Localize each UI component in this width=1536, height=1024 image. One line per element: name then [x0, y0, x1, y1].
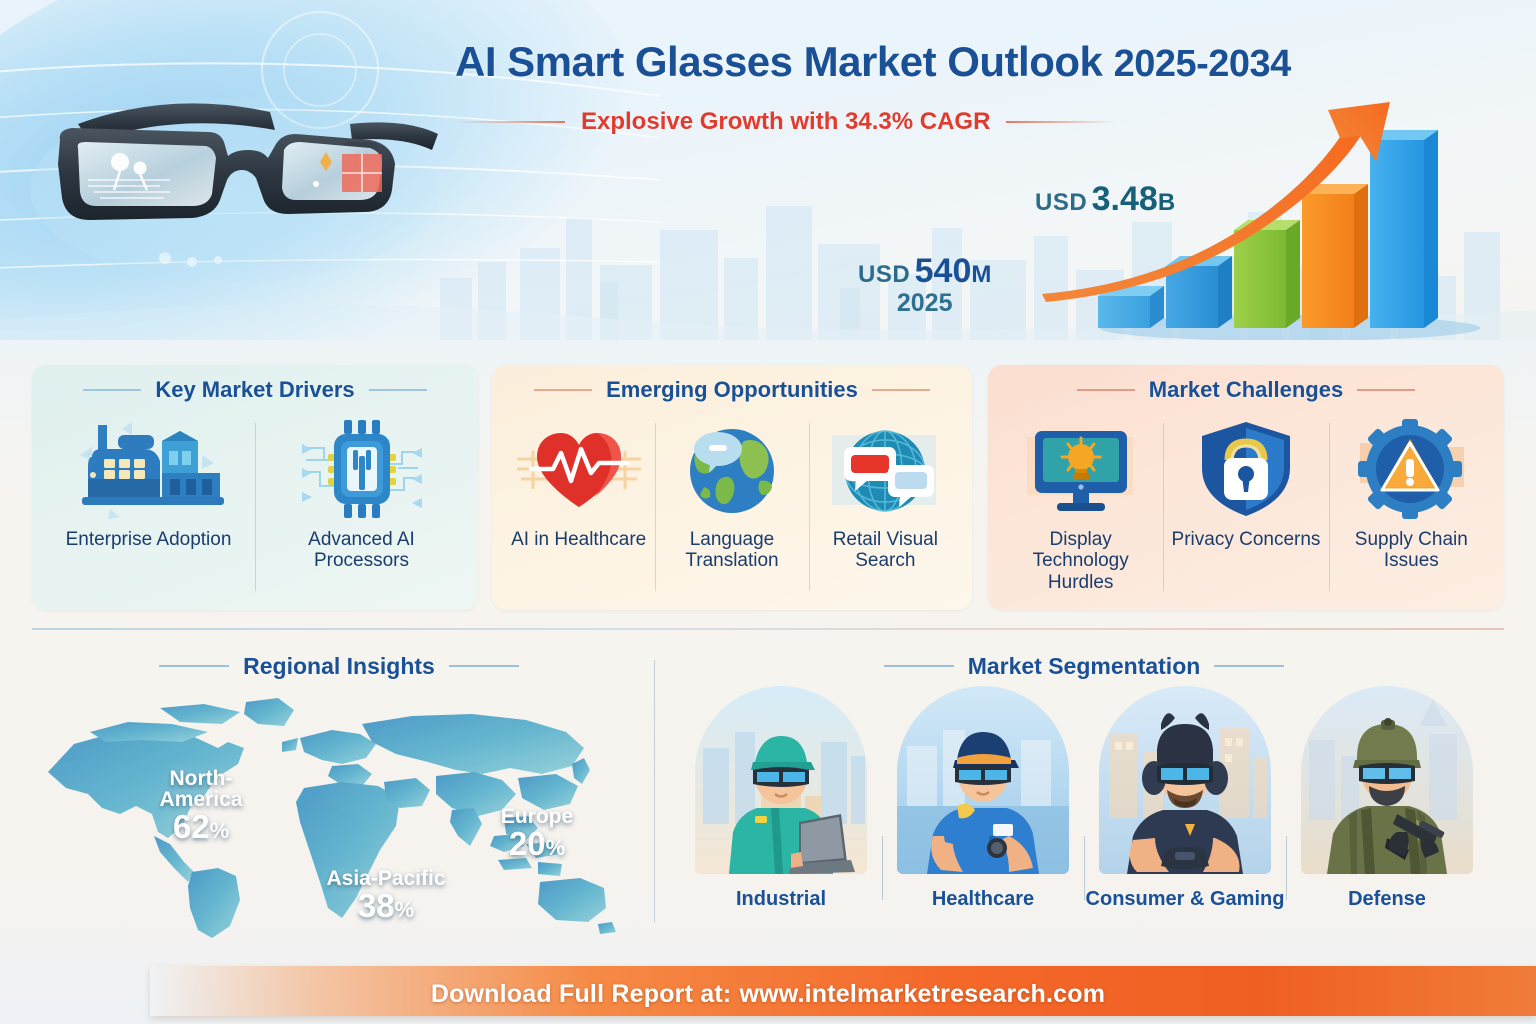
footer-banner: Download Full Report at: www.intelmarket…: [0, 958, 1536, 1024]
segment-label: Consumer & Gaming: [1086, 888, 1285, 911]
card-item-ai-in-healthcare[interactable]: AI in Healthcare: [502, 409, 655, 607]
stat-2025-year: 2025: [858, 289, 991, 318]
card-2-items: AI in Healthcare: [492, 409, 972, 607]
card-1-rule-left: [83, 389, 141, 391]
card-key-market-drivers: Key Market Drivers: [32, 365, 478, 610]
stat-2025-usd-label: USD: [858, 261, 910, 288]
card-1-rule-right: [369, 389, 427, 391]
card-item-label: Privacy Concerns: [1168, 529, 1325, 550]
card-item-supply-chain-issues[interactable]: Supply Chain Issues: [1329, 409, 1494, 607]
regional-title: Regional Insights: [229, 653, 449, 680]
bottom-vertical-divider: [654, 660, 655, 922]
card-2-header: Emerging Opportunities: [492, 365, 972, 409]
stat-2034-value: 3.48: [1092, 180, 1158, 218]
segment-industrial[interactable]: Industrial: [680, 686, 882, 936]
cards-row: Key Market Drivers: [0, 355, 1536, 620]
segment-healthcare[interactable]: Healthcare: [882, 686, 1084, 936]
card-1-header: Key Market Drivers: [32, 365, 478, 409]
infographic-page: AI Smart Glasses Market Outlook 2025-203…: [0, 0, 1536, 1024]
gear-warning-icon: [1354, 415, 1468, 523]
region-name: Europe: [482, 806, 592, 827]
monitor-bulb-icon: [1021, 415, 1141, 523]
segmentation-rule-right: [1214, 665, 1284, 667]
stat-2034-usd-label: USD: [1035, 189, 1087, 216]
card-item-label: Supply Chain Issues: [1329, 529, 1494, 572]
bar-5: [1370, 130, 1438, 328]
region-percent: 20%: [482, 827, 592, 860]
stat-2025-callout: USD 540M 2025: [858, 252, 991, 318]
segmentation-header: Market Segmentation: [664, 646, 1504, 686]
card-emerging-opportunities: Emerging Opportunities: [492, 365, 972, 610]
region-name: North-America: [136, 768, 266, 810]
bar-4: [1302, 184, 1368, 328]
smart-glasses-icon: [20, 72, 450, 292]
page-title: AI Smart Glasses Market Outlook 2025-203…: [455, 38, 1455, 98]
card-3-title: Market Challenges: [1135, 377, 1357, 403]
regional-insights-section: Regional Insights: [32, 646, 646, 946]
regional-rule-right: [449, 665, 519, 667]
card-item-display-technology-hurdles[interactable]: Display Technology Hurdles: [998, 409, 1163, 607]
shield-lock-icon: [1194, 415, 1298, 523]
footer-lead-text: Download Full Report at:: [431, 980, 732, 1009]
segment-label: Healthcare: [932, 888, 1034, 911]
growth-bar-chart: [1040, 100, 1480, 340]
card-item-privacy-concerns[interactable]: Privacy Concerns: [1163, 409, 1328, 607]
world-map: North-America 62% Asia-Pacific 38% Europ…: [32, 686, 646, 938]
segment-label: Industrial: [736, 888, 826, 911]
card-2-title: Emerging Opportunities: [592, 377, 872, 403]
card-item-advanced-ai-processors[interactable]: Advanced AI Processors: [255, 409, 468, 607]
factory-icon: [74, 415, 224, 523]
soldier-avatar: [1301, 686, 1473, 874]
industrial-worker-avatar: [695, 686, 867, 874]
card-item-label: Retail Visual Search: [809, 529, 962, 572]
card-2-rule-left: [534, 389, 592, 391]
title-main: AI Smart Glasses Market Outlook: [455, 38, 1102, 85]
title-years: 2025-2034: [1114, 43, 1291, 85]
segmentation-title: Market Segmentation: [954, 653, 1215, 680]
stat-2025-value: 540: [915, 252, 972, 290]
footer-url[interactable]: www.intelmarketresearch.com: [739, 980, 1105, 1009]
stat-2034-unit: B: [1158, 189, 1175, 216]
region-label-europe: Europe 20%: [482, 806, 592, 860]
healthcare-worker-avatar: [897, 686, 1069, 874]
regional-header: Regional Insights: [32, 646, 646, 686]
card-2-rule-right: [872, 389, 930, 391]
segment-defense[interactable]: Defense: [1286, 686, 1488, 936]
segmentation-rule-left: [884, 665, 954, 667]
card-1-items: Enterprise Adoption: [32, 409, 478, 607]
region-label-asia-pacific: Asia-Pacific 38%: [326, 868, 446, 922]
card-item-label: AI in Healthcare: [507, 529, 650, 550]
card-item-label: Enterprise Adoption: [62, 529, 236, 550]
cpu-chip-icon: [294, 415, 430, 523]
segment-consumer-gaming[interactable]: Consumer & Gaming: [1084, 686, 1286, 936]
footer-cta[interactable]: Download Full Report at: www.intelmarket…: [0, 958, 1536, 1024]
gamer-avatar: [1099, 686, 1271, 874]
segment-list: Industrial: [664, 686, 1504, 936]
subtitle: Explosive Growth with 34.3% CAGR: [565, 108, 1006, 136]
region-percent: 62%: [136, 810, 266, 843]
card-item-label: Advanced AI Processors: [255, 529, 468, 572]
card-item-enterprise-adoption[interactable]: Enterprise Adoption: [42, 409, 255, 607]
globe-chat-icon: [822, 415, 948, 523]
card-item-label: Language Translation: [655, 529, 808, 572]
region-percent: 38%: [326, 889, 446, 922]
card-item-retail-visual-search[interactable]: Retail Visual Search: [809, 409, 962, 607]
region-label-north-america: North-America 62%: [136, 768, 266, 843]
regional-rule-left: [159, 665, 229, 667]
subtitle-rule-left: [455, 121, 565, 123]
bottom-row: Regional Insights: [0, 628, 1536, 958]
heart-pulse-icon: [509, 415, 649, 523]
globe-speech-icon: [676, 415, 788, 523]
card-3-header: Market Challenges: [988, 365, 1504, 409]
card-market-challenges: Market Challenges: [988, 365, 1504, 610]
hero-section: AI Smart Glasses Market Outlook 2025-203…: [0, 0, 1536, 340]
bottom-divider: [32, 628, 1504, 630]
region-name: Asia-Pacific: [326, 868, 446, 889]
card-3-rule-left: [1077, 389, 1135, 391]
card-3-items: Display Technology Hurdles: [988, 409, 1504, 607]
card-3-rule-right: [1357, 389, 1415, 391]
card-1-title: Key Market Drivers: [141, 377, 368, 403]
stat-2025-unit: M: [971, 261, 991, 288]
card-item-language-translation[interactable]: Language Translation: [655, 409, 808, 607]
stat-2034-callout: USD 3.48B: [1035, 180, 1175, 219]
segment-label: Defense: [1348, 888, 1426, 911]
card-item-label: Display Technology Hurdles: [998, 529, 1163, 593]
market-segmentation-section: Market Segmentation: [664, 646, 1504, 946]
